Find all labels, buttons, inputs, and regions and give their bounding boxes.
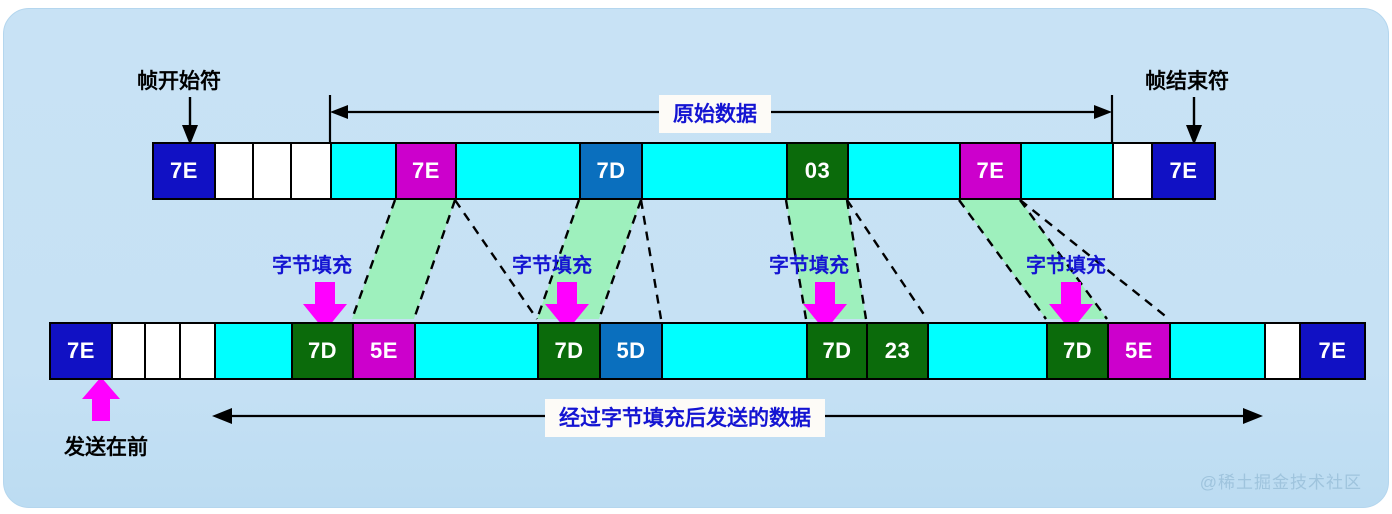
diagram-panel: 7E7E7D037E7E 7E7D5E7D5D7D237D5E7E 帧开始符 帧… bbox=[3, 8, 1389, 508]
original-frame-cell-6 bbox=[455, 142, 581, 200]
byte-stuffing-label-0: 字节填充 bbox=[272, 249, 352, 278]
original-frame-cell-4 bbox=[330, 142, 397, 200]
stuffed-frame-cell-15-5E: 5E bbox=[1107, 322, 1171, 380]
byte-stuffing-label-3: 字节填充 bbox=[1026, 249, 1106, 278]
cell-label: 7D bbox=[554, 338, 583, 364]
original-frame-cell-3 bbox=[290, 142, 332, 200]
byte-stuffing-label-2: 字节填充 bbox=[769, 249, 849, 278]
cell-label: 5E bbox=[1125, 338, 1153, 364]
original-frame-cell-11-7E: 7E bbox=[959, 142, 1022, 200]
cell-label: 23 bbox=[885, 338, 910, 364]
stuffed-frame-cell-5-7D: 7D bbox=[291, 322, 354, 380]
cell-label: 7E bbox=[67, 338, 95, 364]
original-frame-cell-9-03: 03 bbox=[786, 142, 849, 200]
frame-end-label: 帧结束符 bbox=[1145, 65, 1229, 95]
cell-label: 7D bbox=[596, 158, 625, 184]
stuffed-frame-cell-12-23: 23 bbox=[866, 322, 929, 380]
cell-label: 7E bbox=[977, 158, 1005, 184]
stuffed-frame-cell-4 bbox=[214, 322, 293, 380]
frame-end-pointer bbox=[1186, 97, 1202, 145]
original-frame-cell-7-7D: 7D bbox=[579, 142, 643, 200]
stuffed-frame-cell-6-5E: 5E bbox=[352, 322, 416, 380]
original-frame-cell-5-7E: 7E bbox=[395, 142, 457, 200]
cell-label: 03 bbox=[805, 158, 830, 184]
stuffed-frame-cell-11-7D: 7D bbox=[806, 322, 868, 380]
original-frame-cell-8 bbox=[641, 142, 788, 200]
stuffed-frame-cell-8-7D: 7D bbox=[537, 322, 601, 380]
stuffed-frame-cell-2 bbox=[144, 322, 181, 380]
original-frame-cell-12 bbox=[1020, 142, 1114, 200]
stuffed-frame-cell-16 bbox=[1169, 322, 1266, 380]
frame-start-label: 帧开始符 bbox=[137, 65, 221, 95]
stuffed-data-title: 经过字节填充后发送的数据 bbox=[545, 399, 825, 437]
stuffed-frame-cell-9-5D: 5D bbox=[599, 322, 663, 380]
cell-label: 7E bbox=[1170, 158, 1198, 184]
cell-label: 5E bbox=[370, 338, 398, 364]
highlight-bands bbox=[352, 200, 1107, 319]
original-frame-cell-13 bbox=[1112, 142, 1153, 200]
original-frame-cell-0-7E: 7E bbox=[152, 142, 216, 200]
frame-start-pointer bbox=[182, 97, 198, 145]
original-data-title: 原始数据 bbox=[659, 95, 771, 133]
cell-label: 7E bbox=[412, 158, 440, 184]
cell-label: 7D bbox=[308, 338, 337, 364]
cell-label: 7D bbox=[822, 338, 851, 364]
watermark: @稀土掘金技术社区 bbox=[1200, 468, 1362, 493]
original-frame-cell-14-7E: 7E bbox=[1151, 142, 1216, 200]
stuffed-frame-cell-13 bbox=[927, 322, 1048, 380]
stuffed-frame-cell-10 bbox=[661, 322, 808, 380]
cell-label: 7D bbox=[1063, 338, 1092, 364]
send-first-arrow bbox=[82, 377, 120, 421]
stuffed-frame-cell-14-7D: 7D bbox=[1046, 322, 1109, 380]
send-first-label: 发送在前 bbox=[64, 431, 148, 461]
diagram-root: 7E7E7D037E7E 7E7D5E7D5D7D237D5E7E 帧开始符 帧… bbox=[0, 0, 1392, 514]
cell-label: 7E bbox=[1319, 338, 1347, 364]
stuffed-frame-cell-1 bbox=[111, 322, 146, 380]
cell-label: 5D bbox=[616, 338, 645, 364]
stuffed-frame-cell-3 bbox=[179, 322, 216, 380]
original-frame-cell-1 bbox=[214, 142, 254, 200]
original-frame-cell-2 bbox=[252, 142, 292, 200]
byte-stuffing-label-1: 字节填充 bbox=[512, 249, 592, 278]
cell-label: 7E bbox=[170, 158, 198, 184]
stuffed-frame-cell-0-7E: 7E bbox=[49, 322, 113, 380]
stuffed-frame-cell-17 bbox=[1264, 322, 1301, 380]
stuffed-frame-cell-18-7E: 7E bbox=[1299, 322, 1366, 380]
stuffed-frame-cell-7 bbox=[414, 322, 539, 380]
original-frame-cell-10 bbox=[847, 142, 961, 200]
